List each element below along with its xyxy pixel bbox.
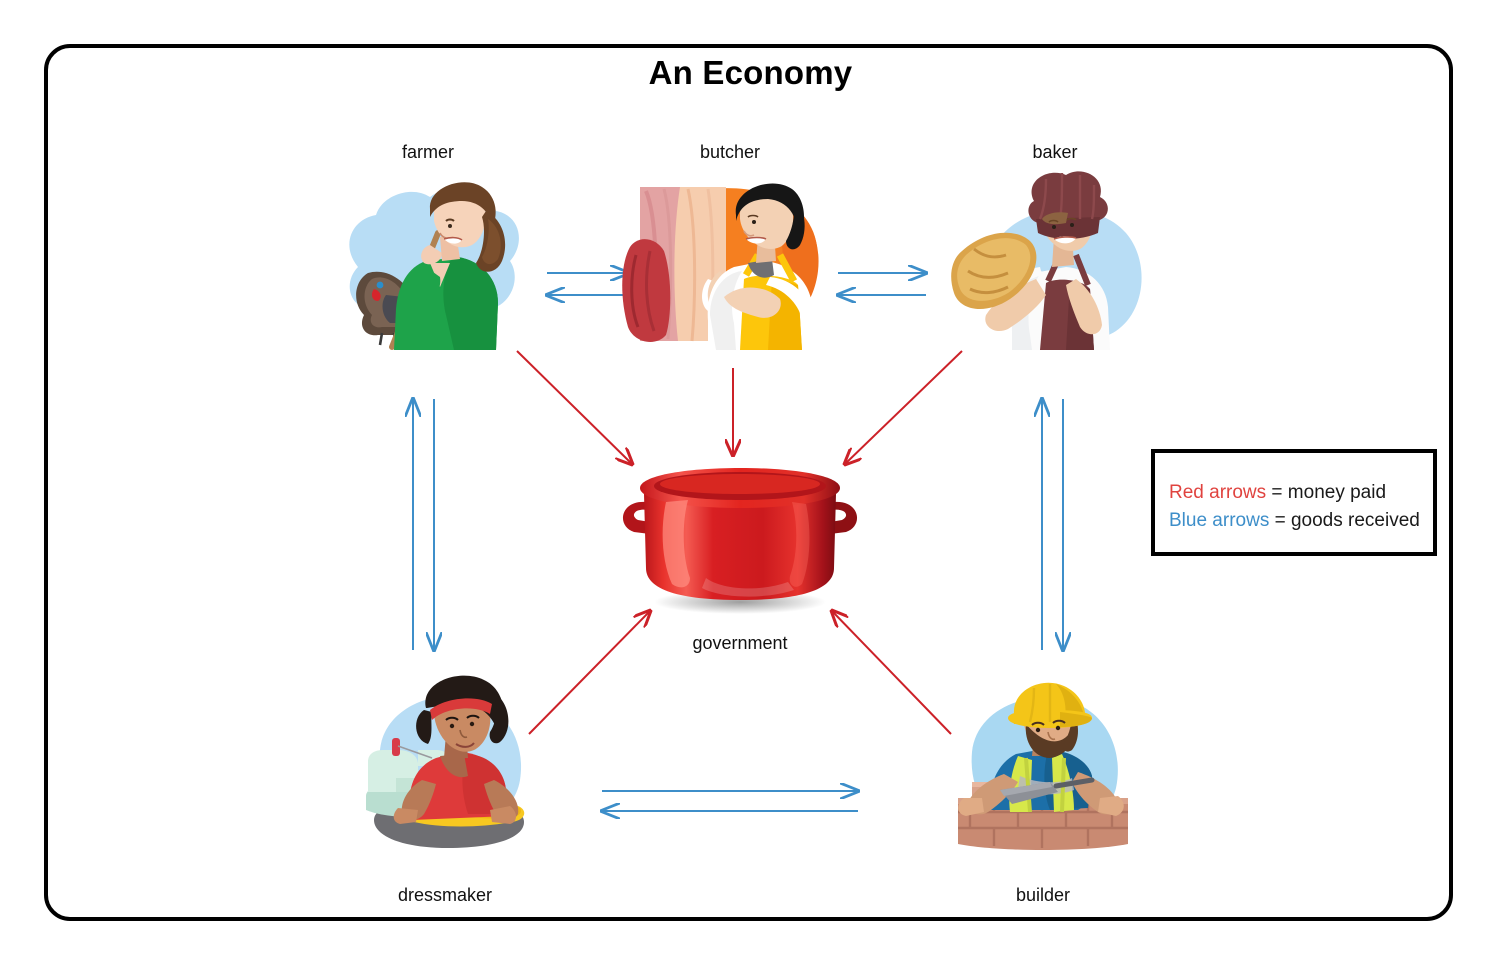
node-label-butcher: butcher: [640, 142, 820, 163]
legend-red-meaning: = money paid: [1266, 482, 1386, 503]
baker-illustration: [950, 175, 1155, 350]
legend-text: Red arrows = money paid Blue arrows = go…: [1169, 479, 1420, 535]
node-label-farmer: farmer: [338, 142, 518, 163]
node-label-dressmaker: dressmaker: [355, 885, 535, 906]
legend-blue-label: Blue arrows: [1169, 510, 1269, 531]
page-title: An Economy: [0, 54, 1501, 92]
butcher-illustration: [616, 175, 831, 350]
legend-red-label: Red arrows: [1169, 482, 1266, 503]
legend-box: Red arrows = money paid Blue arrows = go…: [1151, 449, 1437, 556]
farmer-illustration: [330, 175, 530, 350]
dressmaker-illustration: [340, 680, 550, 860]
diagram-canvas: An Economy: [0, 0, 1501, 971]
node-label-baker: baker: [965, 142, 1145, 163]
legend-row-blue: Blue arrows = goods received: [1169, 507, 1420, 535]
red-cooking-pot-icon: [610, 450, 870, 615]
builder-illustration: [938, 680, 1148, 860]
node-label-government: government: [650, 633, 830, 654]
legend-blue-meaning: = goods received: [1269, 510, 1420, 531]
legend-row-red: Red arrows = money paid: [1169, 479, 1420, 507]
node-label-builder: builder: [953, 885, 1133, 906]
